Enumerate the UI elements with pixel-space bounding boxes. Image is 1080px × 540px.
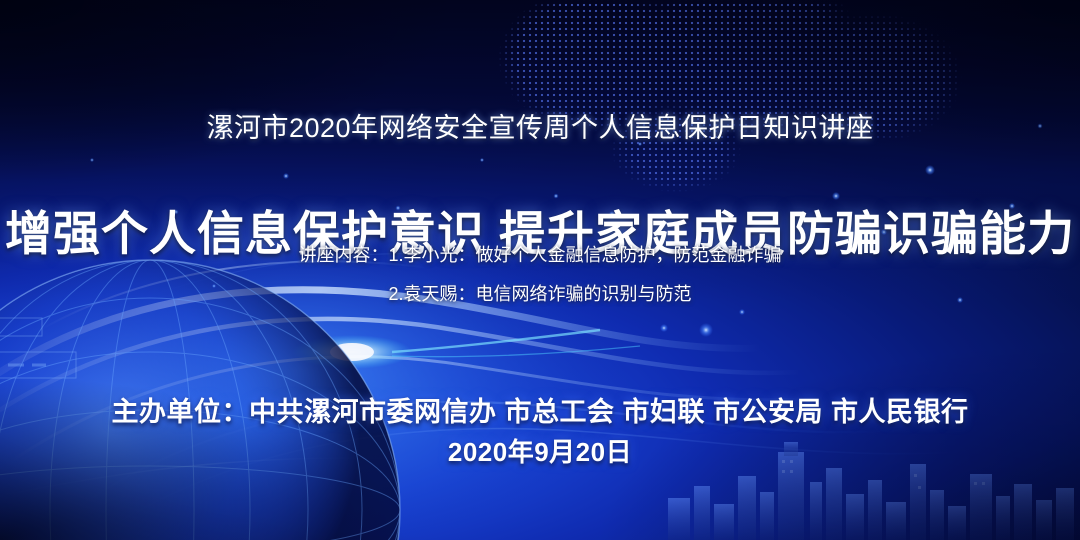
poster-date: 2020年9月20日	[0, 432, 1080, 469]
poster-kicker: 漯河市2020年网络安全宣传周个人信息保护日知识讲座	[0, 106, 1080, 145]
agenda-line-1: 讲座内容：1.李小光：做好个人金融信息防护，防范金融诈骗	[0, 246, 1080, 264]
poster-organizers: 主办单位：中共漯河市委网信办 市总工会 市妇联 市公安局 市人民银行	[0, 390, 1080, 429]
agenda-block: 讲座内容：1.李小光：做好个人金融信息防护，防范金融诈骗 2.袁天赐：电信网络诈…	[0, 246, 1080, 303]
poster-text-content: 漯河市2020年网络安全宣传周个人信息保护日知识讲座 增强个人信息保护意识 提升…	[0, 0, 1080, 540]
poster-canvas: 漯河市2020年网络安全宣传周个人信息保护日知识讲座 增强个人信息保护意识 提升…	[0, 0, 1080, 540]
agenda-line-2: 2.袁天赐：电信网络诈骗的识别与防范	[0, 285, 1080, 303]
